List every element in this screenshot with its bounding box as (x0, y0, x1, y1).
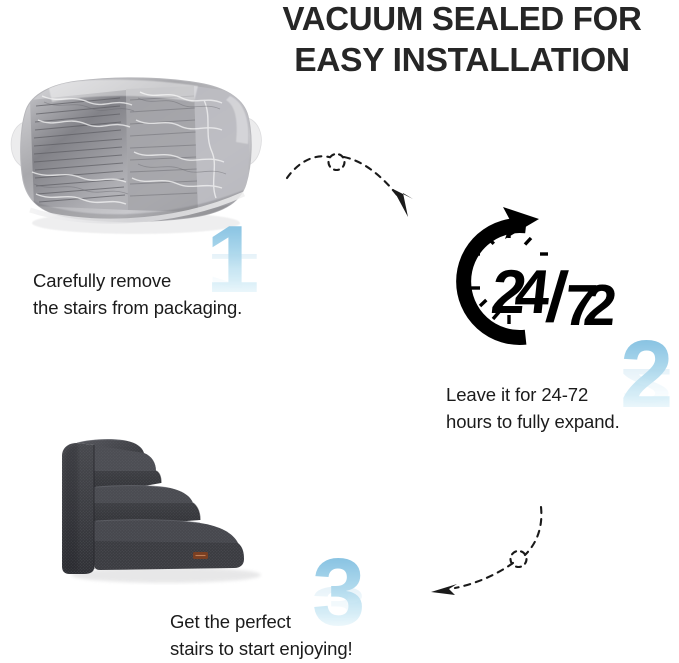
step-1-caption-line-2: the stairs from packaging. (33, 294, 242, 321)
clock-numerator: 24 (488, 258, 554, 327)
step-2-caption-line-2: hours to fully expand. (446, 408, 620, 435)
page-title-line-1: VACUUM SEALED FOR (245, 0, 679, 40)
step-3-caption-line-1: Get the perfect (170, 608, 353, 635)
step-number-2-reflection: 2 (620, 361, 671, 409)
step-3-caption: Get the perfect stairs to start enjoying… (170, 608, 353, 662)
clock-denominator: 72 (561, 273, 620, 338)
page-title-line-2: EASY INSTALLATION (245, 40, 679, 82)
clock-24-72-icon: 24 / 72 (447, 205, 637, 345)
step-2-caption-line-1: Leave it for 24-72 (446, 381, 620, 408)
step-2-caption: Leave it for 24-72 hours to fully expand… (446, 381, 620, 435)
page-title: VACUUM SEALED FOR EASY INSTALLATION (245, 0, 679, 82)
flow-arrow-step2-to-step3 (425, 505, 560, 620)
expanded-pet-stairs-photo (48, 425, 274, 590)
step-1-caption: Carefully remove the stairs from packagi… (33, 267, 242, 321)
step-1-caption-line-1: Carefully remove (33, 267, 242, 294)
flow-arrow-step1-to-step2 (285, 145, 450, 230)
step-number-2: 2 2 (620, 327, 671, 423)
infographic-canvas: VACUUM SEALED FOR EASY INSTALLATION (0, 0, 679, 663)
step-3-caption-line-2: stairs to start enjoying! (170, 635, 353, 662)
